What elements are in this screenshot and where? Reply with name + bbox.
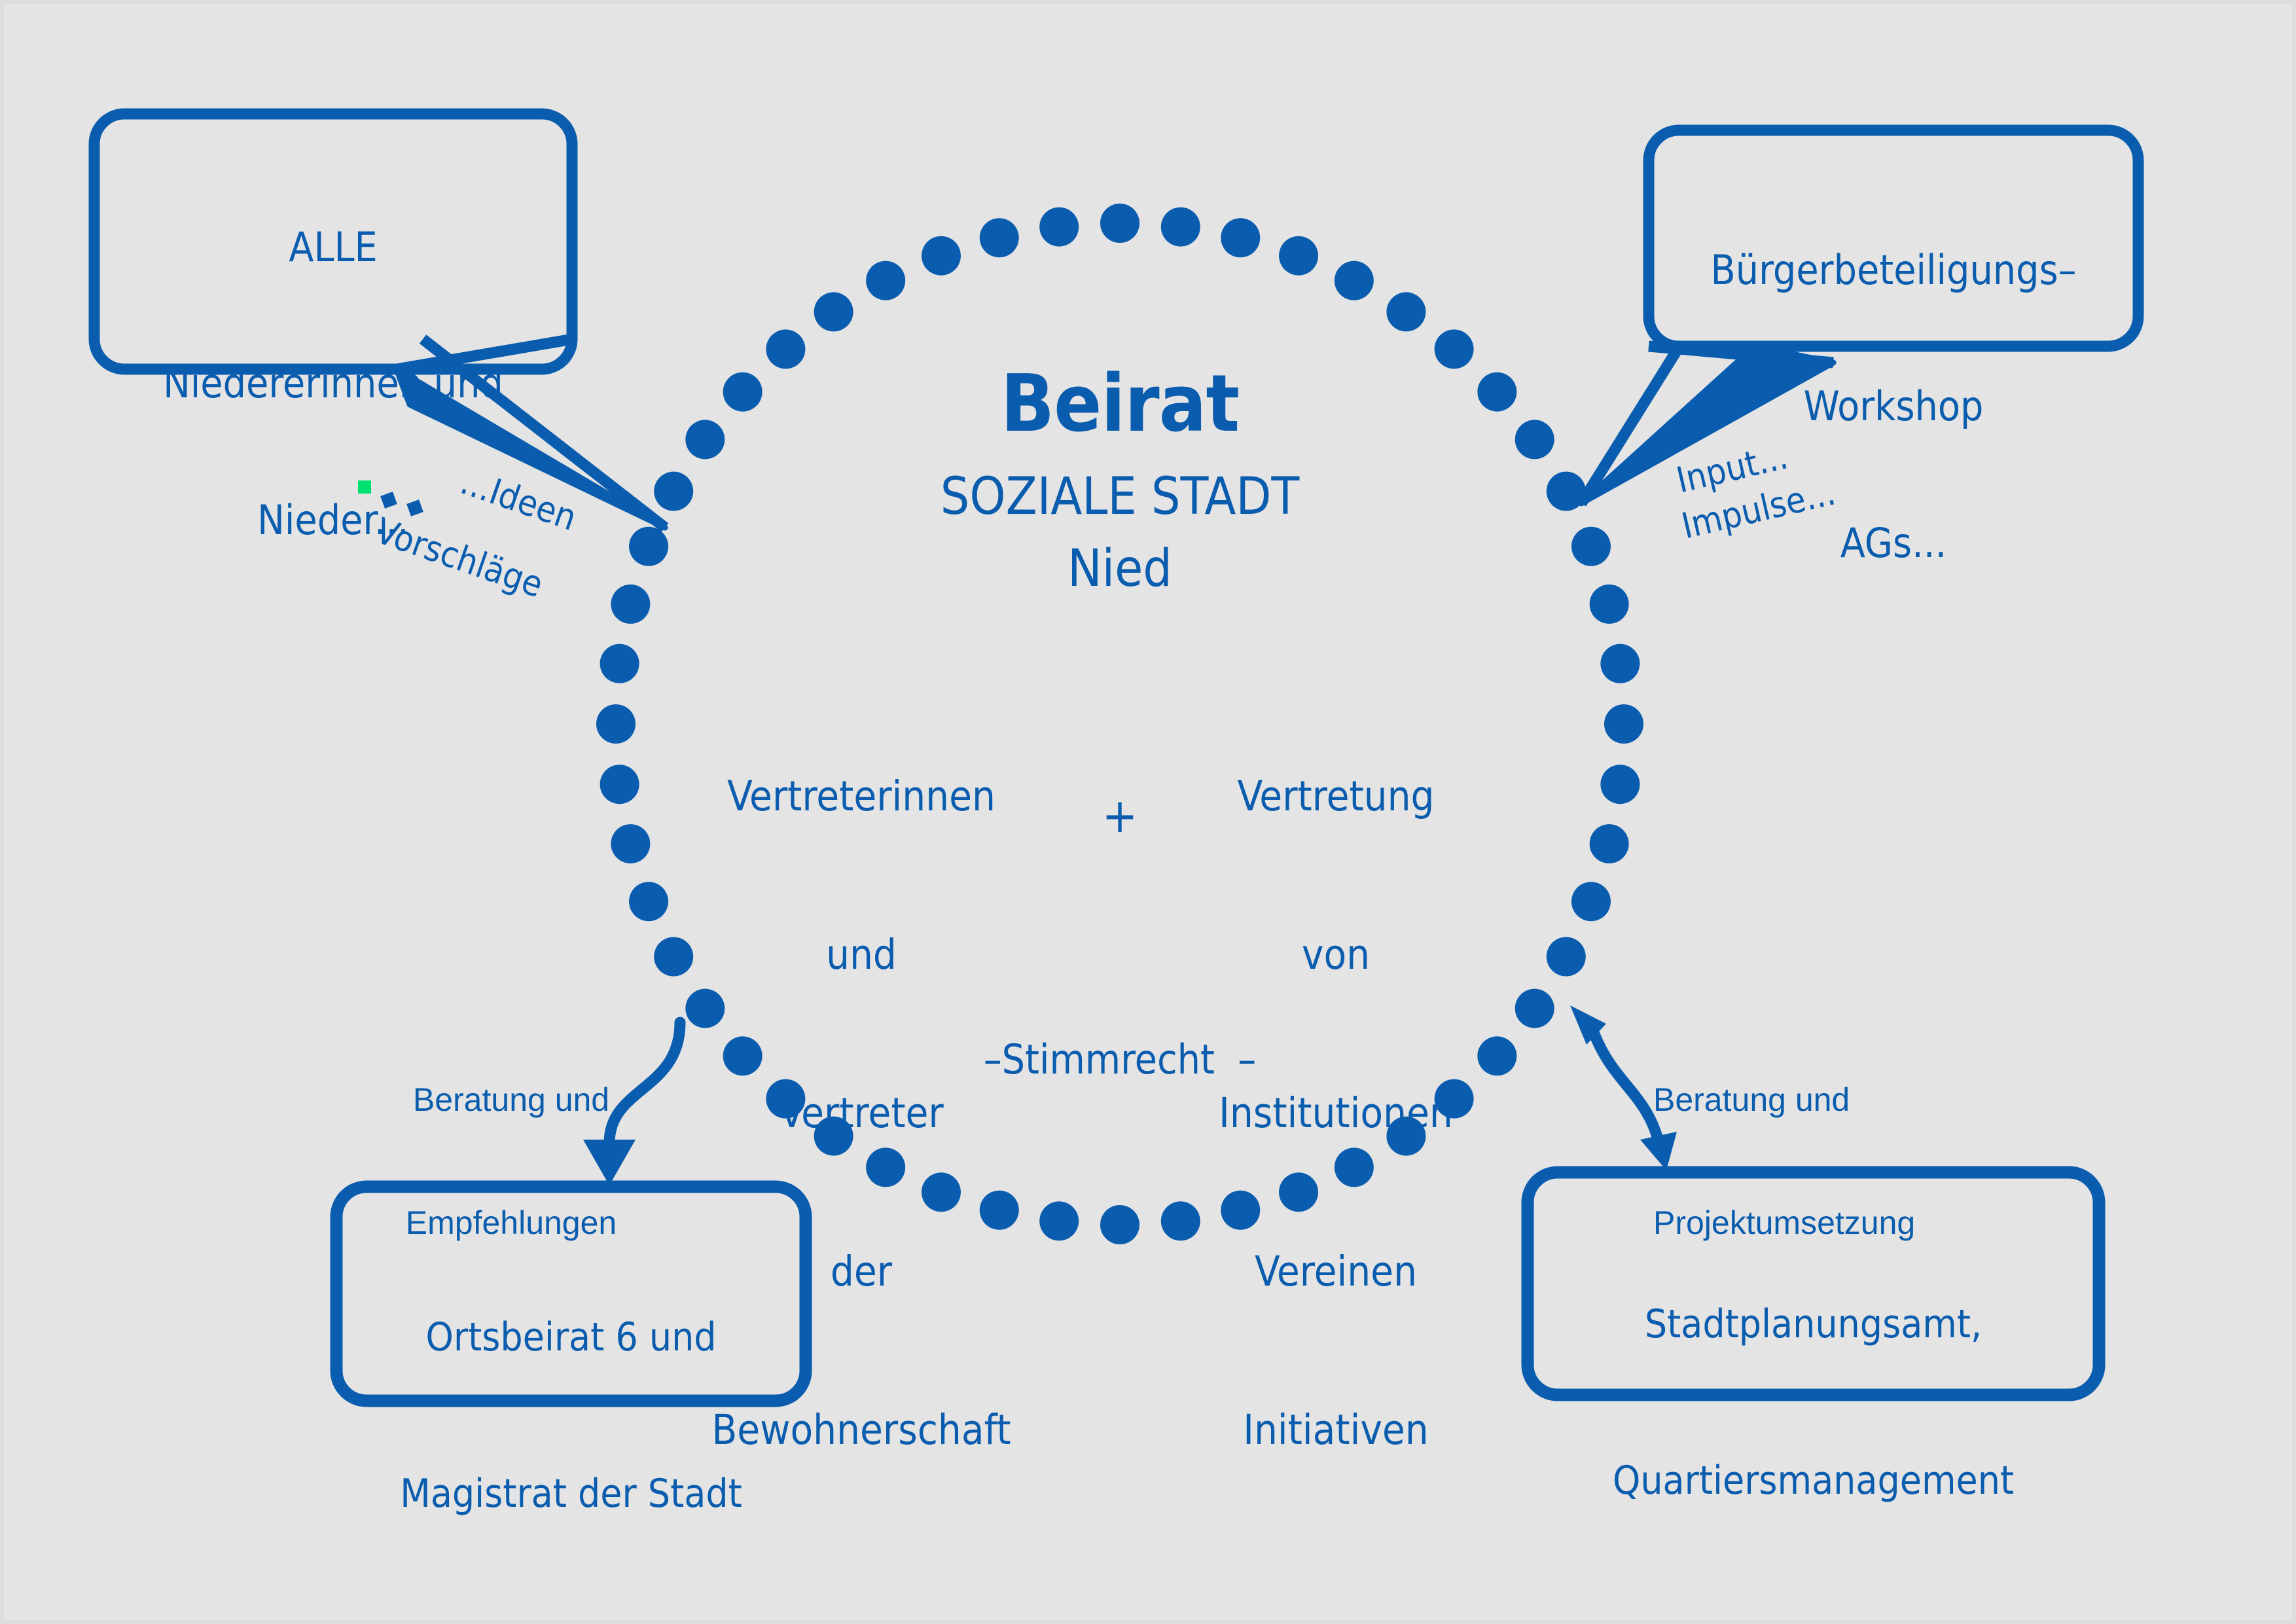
center-right-line-4: Vereinen	[1185, 1246, 1486, 1299]
box-bottom-left-text: Ortsbeirat 6 und Magistrat der Stadt Fra…	[343, 1207, 799, 1624]
center-title: Beirat	[793, 361, 1447, 448]
bubble-top-left-line-2: Niedererinnen und	[101, 361, 565, 406]
bubble-top-right-line-2: Workshop	[1655, 384, 2132, 429]
plus-sign: +	[1077, 789, 1162, 842]
bubble-top-right-line-1: Bürgerbeteiligungs–	[1655, 247, 2132, 293]
box-bottom-right-line-2: Quartiersmanagement	[1534, 1455, 2092, 1507]
bubble-top-left-line-1: ALLE	[101, 225, 565, 270]
center-right-line-2: von	[1185, 929, 1486, 982]
box-bottom-right-line-1: Stadtplanungsamt,	[1534, 1299, 2092, 1351]
bubble-top-right-text: Bürgerbeteiligungs– Workshop AGs...	[1655, 156, 2132, 657]
center-footer-stimmrecht: –Stimmrecht –	[855, 1037, 1385, 1082]
box-bottom-left-line-1: Ortsbeirat 6 und	[343, 1312, 799, 1364]
center-subtitle: SOZIALE STADT	[793, 469, 1447, 526]
arrow-beratung-projektumsetzung	[1591, 1025, 1660, 1146]
center-right-line-5: Initiativen	[1185, 1404, 1486, 1457]
label-beratung-empfehlungen-line-1: Beratung und	[367, 1079, 655, 1121]
center-right-line-1: Vertretung	[1185, 770, 1486, 823]
center-left-line-1: Vertreterinnen	[698, 770, 1025, 823]
center-subtitle-2: Nied	[793, 541, 1447, 598]
label-beratung-projektumsetzung-line-1: Beratung und	[1653, 1079, 2020, 1121]
center-right-line-3: Institutionen	[1185, 1087, 1486, 1140]
box-bottom-right-text: Stadtplanungsamt, Quartiersmanagement un…	[1534, 1194, 2092, 1624]
box-bottom-left-line-2: Magistrat der Stadt	[343, 1468, 799, 1521]
center-left-line-3: Vertreter	[698, 1087, 1025, 1140]
center-left-line-2: und	[698, 929, 1025, 982]
center-right-column: Vertretung von Institutionen Vereinen In…	[1185, 665, 1486, 1562]
box-bottom-right-line-3: und Projektsteuerung	[1534, 1612, 2092, 1624]
diagram-canvas: ALLE Niedererinnen und Nieder... Bürgerb…	[0, 0, 2296, 1624]
